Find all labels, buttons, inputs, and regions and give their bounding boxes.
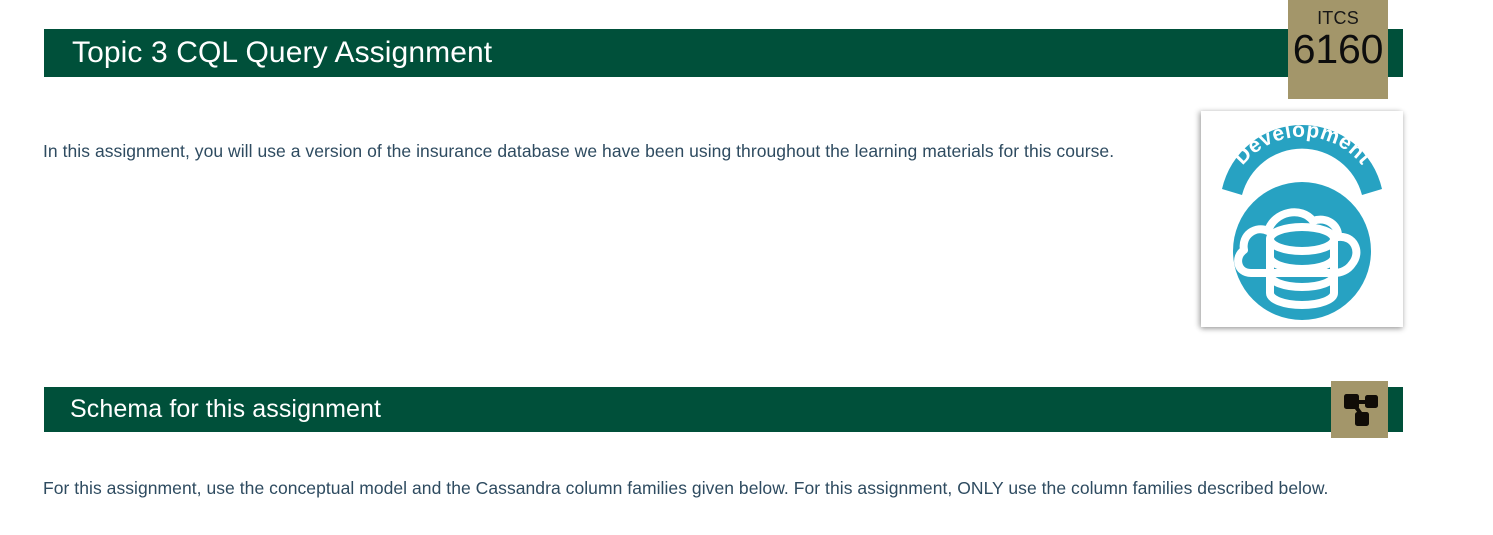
document-page: Topic 3 CQL Query Assignment ITCS 6160 I… [0, 0, 1493, 535]
schema-note-paragraph: For this assignment, use the conceptual … [43, 473, 1333, 504]
course-code-number: 6160 [1293, 27, 1383, 71]
development-logo-figure: Development [1201, 111, 1403, 327]
cloud-database-development-logo-icon: Development [1208, 117, 1396, 322]
sitemap-nodes-icon [1340, 390, 1380, 430]
assignment-intro-paragraph: In this assignment, you will use a versi… [43, 136, 1183, 167]
schema-icon-badge [1331, 381, 1388, 438]
course-code-badge: ITCS 6160 [1288, 0, 1388, 99]
section-header-assignment-overview: Topic 3 CQL Query Assignment [44, 29, 1403, 77]
section-header-schema: Schema for this assignment [44, 387, 1403, 432]
page-title: Topic 3 CQL Query Assignment [44, 36, 492, 70]
section-title-schema: Schema for this assignment [44, 395, 381, 424]
